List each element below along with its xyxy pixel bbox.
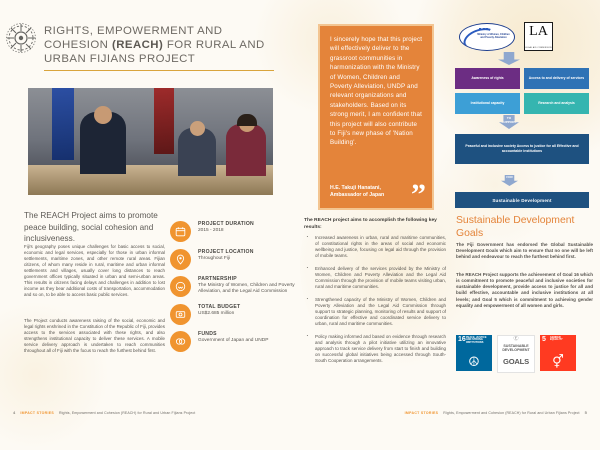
sdg-label: PEACE, JUSTICE AND STRONG INSTITUTIONS [466, 337, 490, 346]
sdg-logo-line1: SUSTAINABLE DEVELOPMENT [498, 344, 534, 352]
sdg-gender-glyph-icon: ⚥ [540, 355, 576, 368]
sdg-number: 5 [542, 336, 546, 343]
key-result-item: Strengthened capacity of the Ministry of… [304, 297, 446, 327]
sdg-section-title: Sustainable Development Goals [456, 214, 596, 240]
handshake-icon [170, 276, 191, 297]
page-title: RIGHTS, EMPOWERMENT AND COHESION (REACH)… [44, 24, 289, 67]
flow-outcome-box: Peaceful and inclusive society Access to… [455, 134, 589, 164]
sdg-logo-line2: GOALS [498, 358, 534, 366]
key-results-list: Increased awareness in urban, rural and … [304, 235, 446, 371]
footer-text: Rights, Empowerment and Cohesion (REACH)… [443, 411, 579, 415]
pillar-institutional-capacity: Institutional capacity [455, 93, 520, 114]
ambassador-quote-box: I sincerely hope that this project will … [318, 24, 434, 210]
logo-subtext: LEGAL AID COMMISSION [525, 47, 552, 49]
fact-value: The Ministry of Women, Children and Pove… [198, 283, 295, 296]
funds-icon [170, 331, 191, 352]
sdg-dove-glyph-icon: ☮ [456, 355, 492, 368]
fact-project-duration: PROJECT DURATION 2015 - 2018 [170, 221, 295, 243]
sdg-label: GENDER EQUALITY [550, 337, 574, 343]
location-pin-icon [170, 249, 191, 270]
title-divider [44, 70, 274, 71]
fijian-mandala-motif-icon [6, 22, 36, 54]
sdg-5-icon: 5 GENDER EQUALITY ⚥ [540, 335, 576, 371]
ministry-of-women-logo: Ministry of Women, Children and Poverty … [459, 23, 515, 51]
fact-label: PROJECT LOCATION [198, 249, 295, 255]
japan-flag [154, 88, 174, 154]
pillar-access-and-delivery: Access to and delivery of services [524, 68, 589, 89]
fact-project-location: PROJECT LOCATION Throughout Fiji [170, 249, 295, 271]
fact-total-budget: TOTAL BUDGET US$2.685 million [170, 304, 295, 326]
project-facts-list: PROJECT DURATION 2015 - 2018 PROJECT LOC… [170, 219, 295, 359]
photo-person-head [94, 106, 112, 124]
fact-value: Throughout Fiji [198, 256, 295, 262]
project-framework-diagram: Ministry of Women, Children and Poverty … [455, 22, 595, 202]
sdg-number: 16 [458, 336, 466, 343]
fact-partnership: PARTNERSHIP The Ministry of Women, Child… [170, 276, 295, 298]
pillar-awareness-of-rights: Awareness of rights [455, 68, 520, 89]
footer-brand: IMPACT STORIES [405, 411, 439, 415]
key-result-item: Enhanced delivery of the services provid… [304, 266, 446, 290]
quote-text: I sincerely hope that this project will … [330, 35, 423, 148]
arrow-down-icon [498, 52, 520, 65]
fact-value: Government of Japan and UNDP [198, 338, 295, 344]
photo-person-head [190, 121, 205, 136]
pillars-grid: Awareness of rights Access to and delive… [455, 68, 589, 114]
sdg-icon-row: 16 PEACE, JUSTICE AND STRONG INSTITUTION… [456, 335, 576, 373]
pillar-research-and-analysis: Research and analysis [524, 93, 589, 114]
arrow-for-icon: FOR [501, 175, 518, 186]
sdg-paragraph-2: The REACH Project supports the achieveme… [456, 272, 593, 309]
partner-logos: Ministry of Women, Children and Poverty … [459, 22, 553, 51]
page-title-acronym: (REACH) [112, 39, 163, 51]
fact-label: FUNDS [198, 331, 295, 337]
logo-text: Ministry of Women, Children and Poverty … [477, 33, 510, 39]
key-result-item: Increased awareness in urban, rural and … [304, 235, 446, 259]
money-icon [170, 304, 191, 325]
quote-mark-icon: ” [411, 184, 426, 206]
footer-brand: IMPACT STORIES [20, 411, 54, 415]
sdg-logo-icon: Ⓔ SUSTAINABLE DEVELOPMENT GOALS [497, 335, 535, 373]
footer-left: 4 IMPACT STORIES Rights, Empowerment and… [13, 410, 195, 415]
key-results-heading: The REACH project aims to accomplish the… [304, 218, 444, 231]
fact-label: PROJECT DURATION [198, 221, 295, 227]
fact-value: 2015 - 2018 [198, 228, 295, 234]
flow-goal-box: Sustainable Development [455, 192, 589, 208]
footer-text: Rights, Empowerment and Cohesion (REACH)… [59, 411, 195, 415]
fact-funds: FUNDS Government of Japan and UNDP [170, 331, 295, 353]
signing-ceremony-photo [28, 88, 273, 195]
page-number: 5 [585, 410, 587, 415]
arrow-to-support-icon: TO SUPPORT [499, 115, 519, 129]
intro-paragraph-2: The Project conducts awareness raising o… [24, 318, 165, 354]
footer-right: IMPACT STORIES Rights, Empowerment and C… [405, 410, 587, 415]
logo-dots [479, 28, 488, 30]
calendar-icon [170, 221, 191, 242]
sdg-paragraph-1: The Fiji Government has endorsed the Glo… [456, 242, 593, 260]
intro-lead-text: The REACH Project aims to promote peace … [24, 210, 164, 245]
fact-label: PARTNERSHIP [198, 276, 295, 282]
quote-attribution: H.E. Takuji Hanatani, Ambassador of Japa… [330, 185, 402, 199]
fact-value: US$2.685 million [198, 311, 295, 317]
intro-paragraph-1: Fiji's geography poses unique challenges… [24, 244, 165, 298]
legal-aid-commission-logo: LA LEGAL AID COMMISSION [524, 22, 553, 51]
logo-monogram: LA [525, 24, 552, 39]
photo-person-hair [237, 114, 257, 126]
sdg-16-icon: 16 PEACE, JUSTICE AND STRONG INSTITUTION… [456, 335, 492, 371]
key-result-item: Policy making informed and based on evid… [304, 334, 446, 364]
un-emblem-icon: Ⓔ [498, 337, 534, 342]
page-number: 4 [13, 410, 15, 415]
fact-label: TOTAL BUDGET [198, 304, 295, 310]
fiji-flag [52, 88, 74, 160]
